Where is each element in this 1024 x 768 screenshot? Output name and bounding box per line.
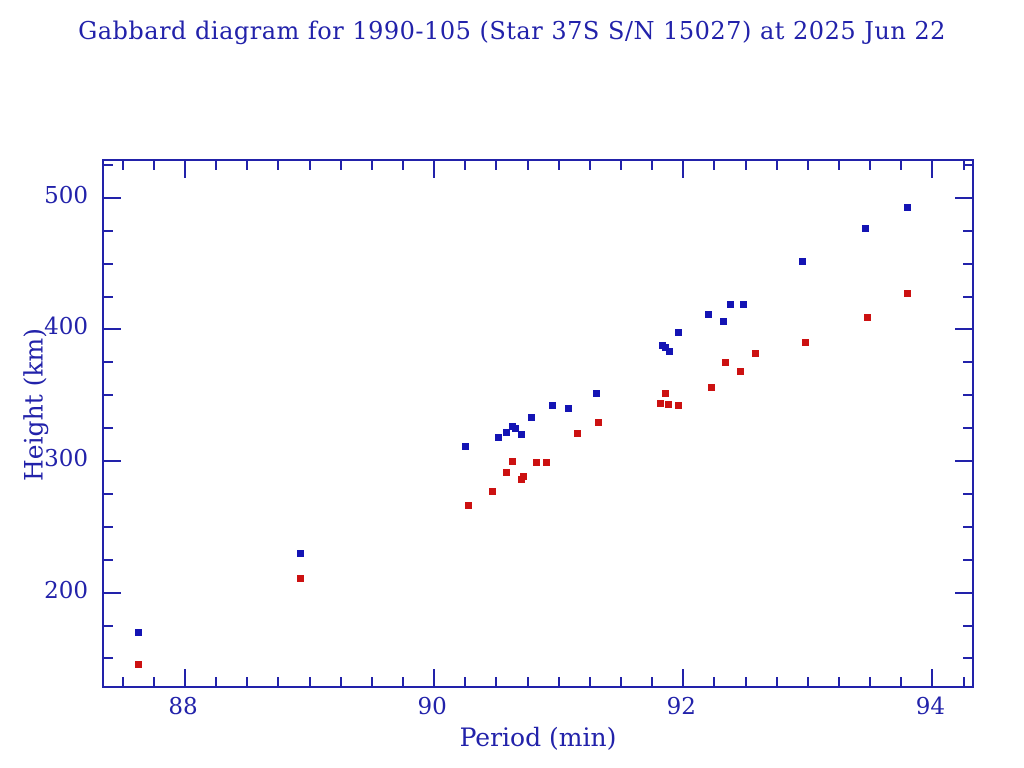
y-tick <box>963 559 972 561</box>
y-tick <box>963 526 972 528</box>
x-tick <box>246 677 248 686</box>
x-tick <box>215 161 217 170</box>
x-tick <box>651 161 653 170</box>
y-tick-label: 500 <box>44 183 88 209</box>
data-point-perigee <box>708 384 715 391</box>
data-point-apogee <box>675 329 682 336</box>
x-tick <box>931 669 933 686</box>
x-tick <box>651 677 653 686</box>
data-point-perigee <box>904 290 911 297</box>
y-tick <box>104 427 113 429</box>
x-tick <box>402 677 404 686</box>
x-tick <box>713 161 715 170</box>
x-tick <box>745 677 747 686</box>
x-tick <box>713 677 715 686</box>
y-tick <box>104 592 121 594</box>
x-tick <box>838 161 840 170</box>
y-tick <box>955 197 972 199</box>
y-tick <box>963 625 972 627</box>
x-tick <box>589 677 591 686</box>
y-tick <box>963 361 972 363</box>
x-tick <box>402 161 404 170</box>
x-tick <box>527 677 529 686</box>
x-tick <box>277 677 279 686</box>
x-tick <box>122 677 124 686</box>
x-tick-label-group: 88909294 <box>102 694 974 724</box>
data-point-apogee <box>720 318 727 325</box>
y-tick <box>963 230 972 232</box>
data-point-apogee <box>528 414 535 421</box>
x-axis-title: Period (min) <box>102 723 974 752</box>
x-tick <box>340 677 342 686</box>
x-tick <box>745 161 747 170</box>
data-point-apogee <box>904 204 911 211</box>
y-tick <box>104 657 113 659</box>
data-point-apogee <box>462 443 469 450</box>
data-point-apogee <box>727 301 734 308</box>
y-tick <box>104 460 121 462</box>
x-tick <box>807 161 809 170</box>
y-tick <box>104 493 113 495</box>
data-point-apogee <box>862 225 869 232</box>
x-tick <box>900 677 902 686</box>
y-tick <box>963 657 972 659</box>
x-tick-label: 88 <box>168 694 197 720</box>
x-tick <box>153 677 155 686</box>
data-point-apogee <box>518 431 525 438</box>
y-tick-label: 400 <box>44 314 88 340</box>
x-tick <box>838 677 840 686</box>
data-point-perigee <box>595 419 602 426</box>
x-tick <box>464 161 466 170</box>
x-tick <box>371 677 373 686</box>
data-point-apogee <box>799 258 806 265</box>
x-tick <box>246 161 248 170</box>
data-point-perigee <box>864 314 871 321</box>
plot-area <box>104 161 972 686</box>
data-point-perigee <box>574 430 581 437</box>
x-tick <box>309 677 311 686</box>
y-tick <box>104 625 113 627</box>
data-point-apogee <box>666 348 673 355</box>
y-tick <box>104 296 113 298</box>
x-tick <box>527 161 529 170</box>
x-tick <box>776 677 778 686</box>
x-tick <box>776 161 778 170</box>
x-tick <box>869 677 871 686</box>
y-tick <box>104 263 113 265</box>
data-point-perigee <box>489 488 496 495</box>
y-tick <box>963 394 972 396</box>
data-point-perigee <box>520 473 527 480</box>
x-tick <box>869 161 871 170</box>
y-tick <box>963 493 972 495</box>
x-tick <box>184 669 186 686</box>
data-point-apogee <box>565 405 572 412</box>
data-point-perigee <box>675 402 682 409</box>
x-tick <box>184 161 186 178</box>
data-point-apogee <box>593 390 600 397</box>
x-tick-label: 94 <box>916 694 945 720</box>
x-tick <box>371 161 373 170</box>
data-point-perigee <box>802 339 809 346</box>
data-point-apogee <box>740 301 747 308</box>
x-tick <box>620 161 622 170</box>
data-point-perigee <box>665 401 672 408</box>
x-tick <box>215 677 217 686</box>
y-tick <box>104 230 113 232</box>
y-tick <box>104 559 113 561</box>
data-point-apogee <box>705 311 712 318</box>
y-tick <box>104 361 113 363</box>
x-tick <box>153 161 155 170</box>
x-tick <box>682 161 684 178</box>
x-tick <box>963 161 965 170</box>
chart-root: Gabbard diagram for 1990-105 (Star 37S S… <box>0 0 1024 768</box>
y-tick <box>104 328 121 330</box>
x-tick-label: 90 <box>417 694 446 720</box>
data-point-perigee <box>737 368 744 375</box>
y-tick <box>104 197 121 199</box>
data-point-perigee <box>752 350 759 357</box>
x-tick <box>963 677 965 686</box>
chart-title: Gabbard diagram for 1990-105 (Star 37S S… <box>0 17 1024 45</box>
x-tick <box>558 161 560 170</box>
x-tick <box>807 677 809 686</box>
x-tick <box>464 677 466 686</box>
x-tick <box>900 161 902 170</box>
data-point-perigee <box>503 469 510 476</box>
data-point-perigee <box>509 458 516 465</box>
data-point-apogee <box>135 629 142 636</box>
x-tick <box>309 161 311 170</box>
data-point-perigee <box>297 575 304 582</box>
x-tick <box>589 161 591 170</box>
x-tick <box>931 161 933 178</box>
x-tick <box>433 669 435 686</box>
y-tick <box>963 427 972 429</box>
x-tick <box>495 161 497 170</box>
plot-frame <box>102 159 974 688</box>
y-tick-label: 300 <box>44 446 88 472</box>
x-tick <box>495 677 497 686</box>
x-tick <box>558 677 560 686</box>
y-tick <box>104 164 113 166</box>
y-tick <box>104 526 113 528</box>
y-tick <box>963 263 972 265</box>
y-tick <box>955 592 972 594</box>
data-point-perigee <box>662 390 669 397</box>
x-tick-label: 92 <box>667 694 696 720</box>
data-point-perigee <box>657 400 664 407</box>
data-point-perigee <box>135 661 142 668</box>
data-point-perigee <box>543 459 550 466</box>
x-tick <box>433 161 435 178</box>
data-point-perigee <box>533 459 540 466</box>
y-tick <box>104 394 113 396</box>
x-tick <box>620 677 622 686</box>
y-tick <box>955 460 972 462</box>
y-tick-label: 200 <box>44 578 88 604</box>
data-point-perigee <box>465 502 472 509</box>
y-tick <box>955 328 972 330</box>
data-point-apogee <box>549 402 556 409</box>
x-tick <box>122 161 124 170</box>
data-point-apogee <box>495 434 502 441</box>
x-tick <box>340 161 342 170</box>
x-tick <box>682 669 684 686</box>
data-point-perigee <box>722 359 729 366</box>
x-tick <box>277 161 279 170</box>
y-tick <box>963 296 972 298</box>
data-point-apogee <box>297 550 304 557</box>
y-tick-label-group: 200300400500 <box>0 159 88 688</box>
